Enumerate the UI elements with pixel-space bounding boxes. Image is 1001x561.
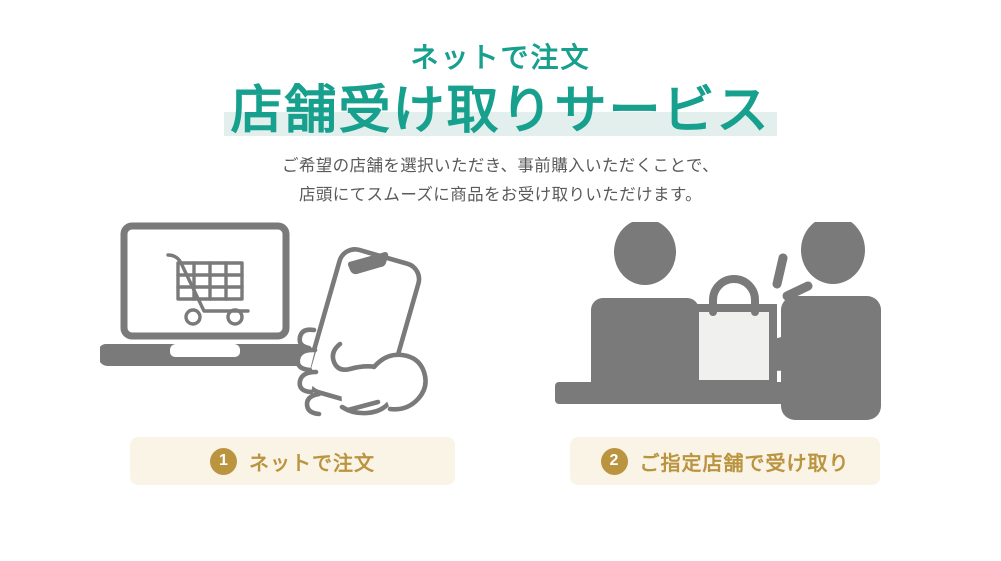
step-badge-2: 2 <box>601 448 628 475</box>
step-label-2: ご指定店舗で受け取り <box>640 447 850 476</box>
promo-banner: ネットで注文 店舗受け取りサービス ご希望の店舗を選択いただき、事前購入いただく… <box>0 0 1001 561</box>
shopping-bag-icon <box>695 279 773 384</box>
step-label-1: ネットで注文 <box>249 447 375 476</box>
page-title: 店舗受け取りサービス <box>230 82 770 140</box>
laptop-icon <box>100 226 312 366</box>
hand-holding-phone-icon <box>298 246 426 414</box>
subtitle: ご希望の店舗を選択いただき、事前購入いただくことで、 店頭にてスムーズに商品をお… <box>0 152 1001 210</box>
step-pill-2[interactable]: 2 ご指定店舗で受け取り <box>570 437 880 485</box>
header: ネットで注文 店舗受け取りサービス <box>0 44 1001 140</box>
subtitle-line-1: ご希望の店舗を選択いただき、事前購入いただくことで、 <box>0 152 1001 181</box>
store-pickup-illustration <box>555 222 900 422</box>
step-badge-1: 1 <box>210 448 237 475</box>
eyebrow-text: ネットで注文 <box>0 44 1001 72</box>
page-title-wrap: 店舗受け取りサービス <box>224 82 776 140</box>
sparkle-icon <box>777 258 808 296</box>
subtitle-line-2: 店頭にてスムーズに商品をお受け取りいただけます。 <box>0 181 1001 210</box>
step-pill-1[interactable]: 1 ネットで注文 <box>130 437 455 485</box>
online-order-illustration <box>100 222 480 422</box>
customer-figure-icon <box>591 222 699 384</box>
